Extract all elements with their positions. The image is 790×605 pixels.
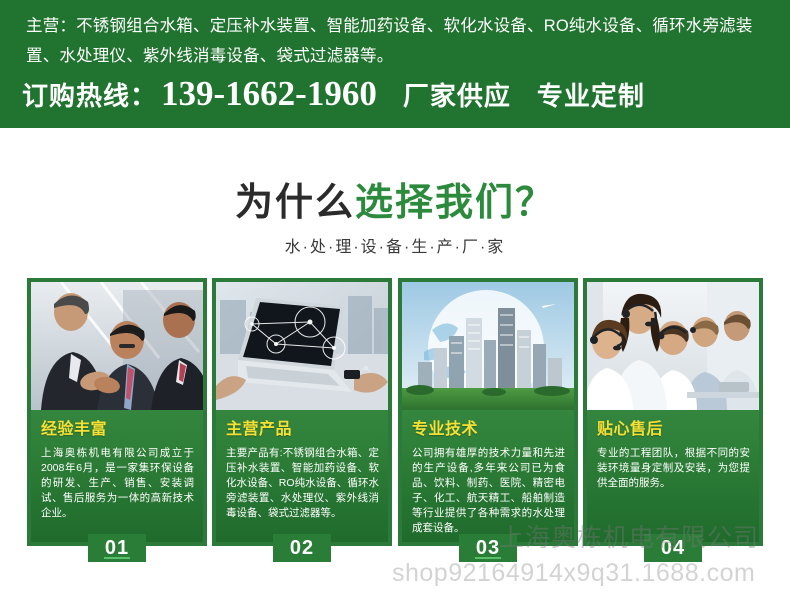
feature-card-row: 经验丰富 上海奥栋机电有限公司成立于2008年6月，是一家集环保设备的研发、生产… (0, 278, 790, 568)
banner-product-intro-text: 主营：不锈钢组合水箱、定压补水装置、智能加药设备、软化水设备、RO纯水设备、循环… (26, 11, 768, 71)
feature-card-2[interactable]: 主营产品 主要产品有:不锈钢组合水箱、定压补水装置、智能加药设备、软化水设备、R… (212, 278, 392, 546)
hotline-label: 订购热线： (22, 81, 157, 111)
card-number: 03 (476, 534, 500, 562)
page-subtitle: 水·处·理·设·备·生·产·厂·家 (0, 236, 790, 260)
hotline-phone-number: 139-1662-1960 (161, 74, 377, 113)
feature-card-4[interactable]: 贴心售后 专业的工程团队，根据不同的安装环境量身定制及安装，为您提供全面的服务。… (583, 278, 763, 546)
card-number: 02 (290, 534, 314, 562)
handshake-businessmen-photo (31, 282, 203, 410)
card-number-badge: 02 (273, 534, 331, 562)
page-title: 为什么选择我们？ (0, 180, 790, 226)
card-number: 04 (661, 534, 685, 562)
city-skyline-globe-photo (402, 282, 574, 410)
card-body: 主要产品有:不锈钢组合水箱、定压补水装置、智能加药设备、软化水设备、RO纯水设备… (226, 446, 379, 521)
feature-card-3[interactable]: 专业技术 公司拥有雄厚的技术力量和先进的生产设备,多年来公司已为食品、饮料、制药… (398, 278, 578, 546)
card-body: 公司拥有雄厚的技术力量和先进的生产设备,多年来公司已为食品、饮料、制药、医院、精… (412, 446, 565, 536)
card-title: 经验丰富 (41, 420, 203, 440)
card-body: 专业的工程团队，根据不同的安装环境量身定制及安装，为您提供全面的服务。 (597, 446, 750, 491)
laptop-network-photo (216, 282, 388, 410)
hotline-tag-factory-supply: 厂家供应 (403, 81, 511, 111)
call-center-headset-staff-photo (587, 282, 759, 410)
card-title: 专业技术 (412, 420, 574, 440)
card-title: 贴心售后 (597, 420, 759, 440)
feature-card-1[interactable]: 经验丰富 上海奥栋机电有限公司成立于2008年6月，是一家集环保设备的研发、生产… (27, 278, 207, 546)
hotline-tag-custom-made: 专业定制 (537, 81, 645, 111)
card-number-badge: 01 (88, 534, 146, 562)
card-number-badge: 03 (459, 534, 517, 562)
page-title-part-choose-us: 选择我们？ (355, 182, 555, 224)
card-number: 01 (105, 534, 129, 562)
card-body: 上海奥栋机电有限公司成立于2008年6月，是一家集环保设备的研发、生产、销售、安… (41, 446, 194, 521)
banner-hotline-row: 订购热线：139-1662-1960厂家供应专业定制 (22, 74, 782, 116)
card-title: 主营产品 (226, 420, 388, 440)
page-title-part-why: 为什么 (235, 182, 355, 224)
promo-page: 主营：不锈钢组合水箱、定压补水装置、智能加药设备、软化水设备、RO纯水设备、循环… (0, 0, 790, 605)
top-green-banner: 主营：不锈钢组合水箱、定压补水装置、智能加药设备、软化水设备、RO纯水设备、循环… (0, 0, 790, 128)
card-number-badge: 04 (644, 534, 702, 562)
